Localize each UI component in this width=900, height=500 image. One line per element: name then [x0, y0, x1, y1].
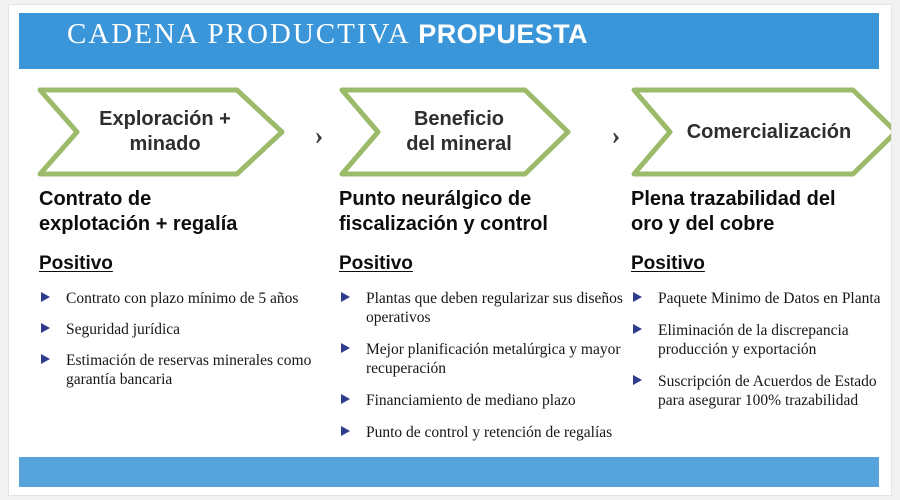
column-2-subheading: Positivo [339, 253, 413, 275]
triangle-bullet-icon [633, 324, 642, 334]
triangle-bullet-icon [341, 426, 350, 436]
column-2-heading: Punto neurálgico de fiscalización y cont… [339, 187, 634, 237]
list-item-text: Contrato con plazo mínimo de 5 años [66, 290, 298, 307]
list-item-text: Paquete Minimo de Datos en Planta [658, 290, 881, 307]
process-stage-2[interactable]: Beneficio del mineral [339, 87, 571, 177]
list-item: Plantas que deben regularizar sus diseño… [339, 289, 634, 327]
triangle-bullet-icon [341, 343, 350, 353]
column-3-heading: Plena trazabilidad del oro y del cobre [631, 187, 883, 237]
triangle-bullet-icon [341, 394, 350, 404]
list-item-text: Eliminación de la discrepancia producció… [658, 322, 849, 358]
triangle-bullet-icon [341, 292, 350, 302]
list-item-text: Seguridad jurídica [66, 321, 180, 338]
list-item: Paquete Minimo de Datos en Planta [631, 289, 883, 308]
chevron-right-separator-icon: › [308, 121, 330, 151]
list-item: Estimación de reservas minerales como ga… [39, 351, 329, 389]
column-1-bullet-list: Contrato con plazo mínimo de 5 años Segu… [39, 289, 329, 389]
page-title-regular: CADENA PRODUCTIVA [67, 18, 418, 50]
triangle-bullet-icon [633, 375, 642, 385]
list-item-text: Financiamiento de mediano plazo [366, 392, 576, 409]
footer-band [19, 457, 879, 487]
triangle-bullet-icon [633, 292, 642, 302]
slide-canvas: CADENA PRODUCTIVA PROPUESTA Exploración … [8, 4, 892, 496]
list-item: Punto de control y retención de regalías [339, 423, 634, 442]
list-item-text: Suscripción de Acuerdos de Estado para a… [658, 373, 877, 409]
list-item-text: Estimación de reservas minerales como ga… [66, 352, 311, 388]
process-stage-3[interactable]: Comercialización [631, 87, 892, 177]
list-item: Seguridad jurídica [39, 320, 329, 339]
list-item-text: Punto de control y retención de regalías [366, 424, 612, 441]
list-item-text: Plantas que deben regularizar sus diseño… [366, 290, 623, 326]
column-3-subheading: Positivo [631, 253, 705, 275]
triangle-bullet-icon [41, 354, 50, 364]
list-item-text: Mejor planificación metalúrgica y mayor … [366, 341, 621, 377]
process-stage-2-label: Beneficio del mineral [339, 87, 571, 177]
column-2: Punto neurálgico de fiscalización y cont… [339, 187, 634, 455]
process-stage-3-label: Comercialización [631, 87, 892, 177]
chevron-right-separator-icon: › [605, 121, 627, 151]
list-item: Suscripción de Acuerdos de Estado para a… [631, 372, 883, 410]
list-item: Contrato con plazo mínimo de 5 años [39, 289, 329, 308]
column-1: Contrato de explotación + regalía Positi… [39, 187, 329, 389]
process-stage-1[interactable]: Exploración + minado [37, 87, 285, 177]
column-2-bullet-list: Plantas que deben regularizar sus diseño… [339, 289, 634, 442]
list-item: Eliminación de la discrepancia producció… [631, 321, 883, 359]
list-item: Mejor planificación metalúrgica y mayor … [339, 340, 634, 378]
triangle-bullet-icon [41, 323, 50, 333]
column-3: Plena trazabilidad del oro y del cobre P… [631, 187, 883, 423]
column-3-bullet-list: Paquete Minimo de Datos en Planta Elimin… [631, 289, 883, 410]
triangle-bullet-icon [41, 292, 50, 302]
page-title-emphasis: PROPUESTA [418, 19, 588, 49]
list-item: Financiamiento de mediano plazo [339, 391, 634, 410]
column-1-heading: Contrato de explotación + regalía [39, 187, 329, 237]
page-title: CADENA PRODUCTIVA PROPUESTA [67, 18, 847, 50]
process-stage-1-label: Exploración + minado [37, 87, 285, 177]
column-1-subheading: Positivo [39, 253, 113, 275]
